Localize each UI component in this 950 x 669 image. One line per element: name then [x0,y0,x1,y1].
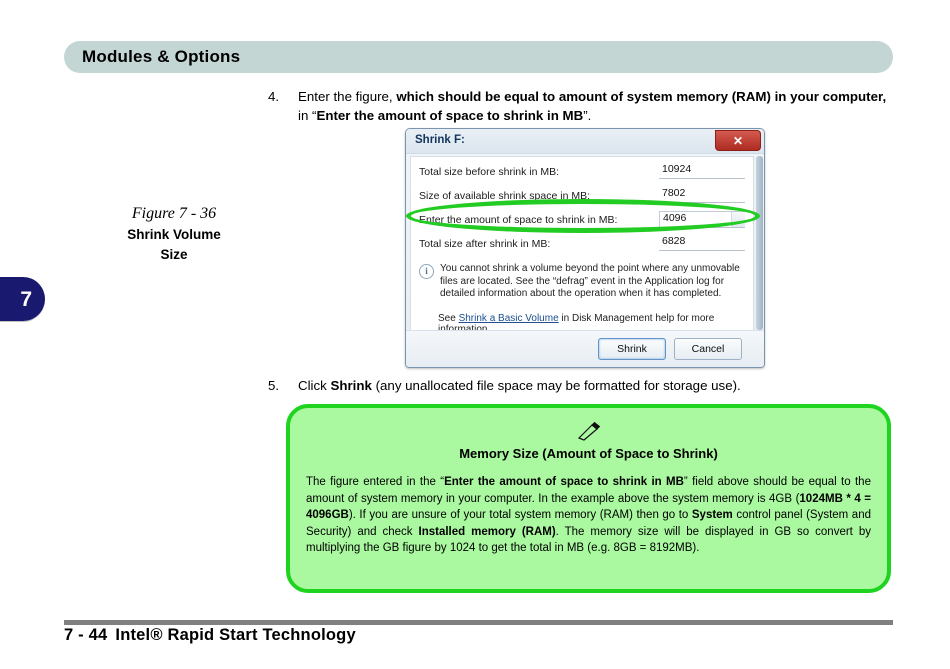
step-text: Enter the figure, which should be equal … [298,87,888,125]
dialog-footer: Shrink Cancel [406,330,764,367]
figure-caption: Figure 7 - 36 Shrink Volume Size [92,204,256,264]
spinner-stepper[interactable] [731,212,745,227]
shrink-amount-input[interactable]: 4096 [659,211,745,228]
field-label: Enter the amount of space to shrink in M… [419,211,659,226]
dialog-scrollbar[interactable] [756,156,763,330]
footer-page-number: 7 - 44 [64,626,107,644]
dialog-notice: i You cannot shrink a volume beyond the … [419,263,745,301]
form-row: Enter the amount of space to shrink in M… [419,211,745,235]
figure-label-line1: Shrink Volume [92,226,256,244]
footer-rule [64,620,893,625]
total-size-after-value: 6828 [659,235,745,251]
note-title: Memory Size (Amount of Space to Shrink) [306,446,871,461]
dialog-title: Shrink F: [415,134,465,146]
dialog-titlebar: Shrink F: ✕ [406,129,764,154]
chapter-tab: 7 [0,277,45,321]
note-body: The figure entered in the “Enter the amo… [306,474,871,557]
form-row: Total size after shrink in MB: 6828 [419,235,745,259]
shrink-dialog: Shrink F: ✕ Total size before shrink in … [405,128,765,368]
form-row: Size of available shrink space in MB: 78… [419,187,745,211]
form-row: Total size before shrink in MB: 10924 [419,163,745,187]
footer: 7 - 44Intel® Rapid Start Technology [64,626,356,645]
dialog-notice-text: You cannot shrink a volume beyond the po… [440,263,745,301]
total-size-before-value: 10924 [659,163,745,179]
help-prefix: See [438,313,459,324]
figure-label-line2: Size [92,246,256,264]
field-label: Size of available shrink space in MB: [419,187,659,202]
step-marker: 4. [268,87,298,125]
field-label: Total size before shrink in MB: [419,163,659,178]
available-shrink-space-value: 7802 [659,187,745,203]
field-label: Total size after shrink in MB: [419,235,659,250]
footer-title: Intel® Rapid Start Technology [115,626,355,644]
info-icon: i [419,264,434,279]
step-item-5: 5. Click Shrink (any unallocated file sp… [268,376,888,395]
shrink-basic-volume-link[interactable]: Shrink a Basic Volume [459,313,559,324]
note-callout-box: Memory Size (Amount of Space to Shrink) … [286,404,891,593]
pen-icon [306,420,871,442]
cancel-button[interactable]: Cancel [674,338,742,360]
shrink-button[interactable]: Shrink [598,338,666,360]
step-item-4: 4. Enter the figure, which should be equ… [268,87,888,125]
figure-number: Figure 7 - 36 [92,204,256,224]
dialog-body: Total size before shrink in MB: 10924 Si… [410,156,754,331]
chapter-tab-number: 7 [20,289,32,310]
page-header-band: Modules & Options [64,41,893,73]
step-marker: 5. [268,376,298,395]
close-icon[interactable]: ✕ [715,130,761,151]
step-text: Click Shrink (any unallocated file space… [298,376,888,395]
page-title: Modules & Options [64,47,240,67]
